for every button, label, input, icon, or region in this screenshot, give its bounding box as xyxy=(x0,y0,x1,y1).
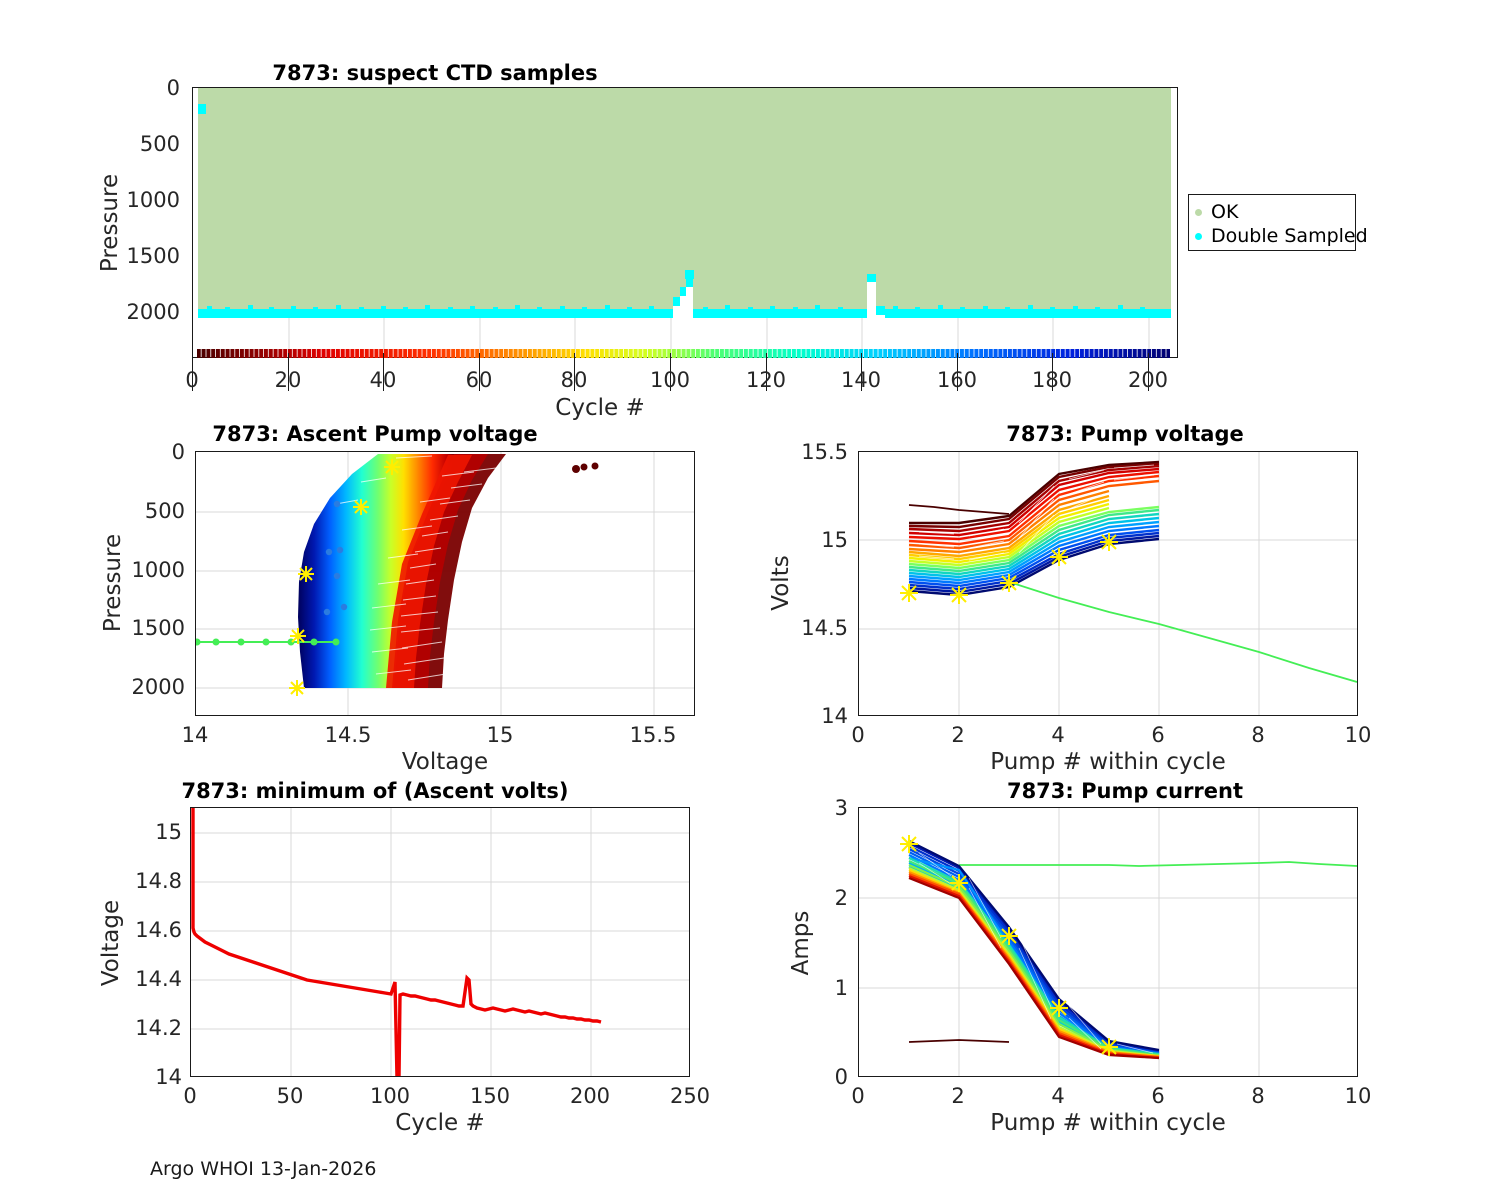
xtick-label: 180 xyxy=(1032,368,1072,392)
axes-pump-voltage xyxy=(858,451,1358,716)
ytick-label: 1000 xyxy=(123,558,185,582)
ytick-label: 1 xyxy=(798,976,848,1000)
ytick-label: 14.2 xyxy=(108,1016,182,1040)
xtick-label: 100 xyxy=(370,1084,410,1108)
legend-item-double-sampled: Double Sampled xyxy=(1195,224,1347,248)
xtick-label: 120 xyxy=(746,368,786,392)
xaxis-label-pump-current: Pump # within cycle xyxy=(990,1110,1225,1136)
yaxis-label-pump-voltage: Volts xyxy=(768,555,794,610)
panel-suspect-ctd: 7873: suspect CTD samples xyxy=(0,55,1500,400)
panel-title-pump-current: 7873: Pump current xyxy=(750,779,1500,803)
ytick-label: 14 xyxy=(778,704,848,728)
panel-pump-current: 7873: Pump current xyxy=(750,775,1500,1135)
axes-pump-current xyxy=(858,807,1358,1077)
xtick-label: 0 xyxy=(185,368,198,392)
panel-ascent-pump-voltage: 7873: Ascent Pump voltage xyxy=(0,418,750,768)
pump-current-bundle xyxy=(909,841,1159,1058)
ytick-label: 2 xyxy=(798,886,848,910)
xtick-label: 60 xyxy=(466,368,493,392)
ytick-label: 500 xyxy=(120,132,180,156)
yaxis-label-ascent-pump-voltage: Pressure xyxy=(100,534,126,632)
xtick-label: 15 xyxy=(487,723,514,747)
legend-label-ok: OK xyxy=(1211,201,1238,223)
plot-pump-voltage xyxy=(859,452,1358,716)
pump-voltage-bundle xyxy=(909,462,1159,595)
ytick-label: 2000 xyxy=(120,300,180,324)
plot-min-ascent-volts xyxy=(191,808,690,1077)
panel-min-ascent-volts: 7873: minimum of (Ascent volts) xyxy=(0,775,750,1135)
xtick-label: 10 xyxy=(1345,1084,1372,1108)
xtick-label: 8 xyxy=(1251,723,1264,747)
xtick-label: 150 xyxy=(470,1084,510,1108)
xtick-label: 4 xyxy=(1051,723,1064,747)
xaxis-label-pump-voltage: Pump # within cycle xyxy=(990,749,1225,775)
xtick-label: 50 xyxy=(277,1084,304,1108)
ytick-label: 14 xyxy=(108,1065,182,1089)
legend-dot-ok xyxy=(1195,209,1202,216)
xtick-label: 6 xyxy=(1151,1084,1164,1108)
plot-pump-current xyxy=(859,808,1358,1077)
xtick-label: 2 xyxy=(951,1084,964,1108)
ok-profile-block xyxy=(198,88,1171,313)
xtick-label: 250 xyxy=(670,1084,710,1108)
ytick-label: 15 xyxy=(778,528,848,552)
legend-item-ok: OK xyxy=(1195,200,1347,224)
xtick-label: 100 xyxy=(650,368,690,392)
xaxis-label-ascent-pump-voltage: Voltage xyxy=(402,749,488,775)
panel-title-pump-voltage: 7873: Pump voltage xyxy=(750,422,1500,446)
argo-float-diagnostics-figure: 7873: suspect CTD samples xyxy=(0,0,1500,1200)
ytick-label: 14.5 xyxy=(778,616,848,640)
xtick-label: 0 xyxy=(851,723,864,747)
panel-pump-voltage: 7873: Pump voltage xyxy=(750,418,1500,768)
yaxis-label-suspect-ctd: Pressure xyxy=(97,174,123,272)
xtick-label: 0 xyxy=(851,1084,864,1108)
xtick-label: 200 xyxy=(570,1084,610,1108)
green-descending-line xyxy=(1009,582,1357,682)
gridlines xyxy=(191,808,690,1077)
ytick-label: 1500 xyxy=(123,616,185,640)
xtick-label: 2 xyxy=(951,723,964,747)
axes-ascent-pump-voltage xyxy=(195,451,695,716)
legend-dot-double-sampled xyxy=(1195,233,1202,240)
cycle-color-strip xyxy=(192,343,1178,365)
plot-suspect-ctd xyxy=(193,88,1178,358)
xtick-label: 14 xyxy=(182,723,209,747)
ytick-label: 500 xyxy=(123,499,185,523)
ytick-label: 2000 xyxy=(123,675,185,699)
ytick-label: 3 xyxy=(798,796,848,820)
xtick-label: 40 xyxy=(370,368,397,392)
xtick-label: 80 xyxy=(561,368,588,392)
ytick-label: 1500 xyxy=(120,244,180,268)
legend-label-double-sampled: Double Sampled xyxy=(1211,225,1368,247)
gridlines xyxy=(859,808,1358,1077)
ytick-label: 0 xyxy=(120,76,180,100)
axes-min-ascent-volts xyxy=(190,807,690,1077)
xtick-label: 14.5 xyxy=(325,723,372,747)
xtick-label: 200 xyxy=(1128,368,1168,392)
green-horizontal-line xyxy=(959,862,1357,866)
xaxis-label-min-ascent-volts: Cycle # xyxy=(395,1110,484,1136)
panel-title-min-ascent-volts: 7873: minimum of (Ascent volts) xyxy=(0,779,750,803)
xtick-label: 4 xyxy=(1051,1084,1064,1108)
xtick-label: 6 xyxy=(1151,723,1164,747)
xtick-label: 20 xyxy=(275,368,302,392)
yaxis-label-min-ascent-volts: Voltage xyxy=(98,900,124,986)
yaxis-label-pump-current: Amps xyxy=(788,911,814,976)
xtick-label: 10 xyxy=(1345,723,1372,747)
legend-suspect-ctd: OK Double Sampled xyxy=(1188,194,1356,251)
xtick-label: 15.5 xyxy=(630,723,677,747)
xtick-label: 140 xyxy=(841,368,881,392)
footer-attribution: Argo WHOI 13-Jan-2026 xyxy=(150,1158,376,1180)
ytick-label: 14.8 xyxy=(108,869,182,893)
xtick-label: 0 xyxy=(183,1084,196,1108)
axes-suspect-ctd xyxy=(192,87,1178,358)
ytick-label: 0 xyxy=(123,440,185,464)
dark-red-outliers xyxy=(572,463,599,474)
ytick-label: 1000 xyxy=(120,188,180,212)
ytick-label: 15.5 xyxy=(778,440,848,464)
xtick-label: 160 xyxy=(937,368,977,392)
min-volts-trace xyxy=(193,808,601,1077)
panel-title-ascent-pump-voltage: 7873: Ascent Pump voltage xyxy=(0,422,750,446)
xtick-label: 8 xyxy=(1251,1084,1264,1108)
ytick-label: 15 xyxy=(108,820,182,844)
plot-ascent-pump-voltage xyxy=(196,452,695,716)
ytick-label: 0 xyxy=(798,1065,848,1089)
